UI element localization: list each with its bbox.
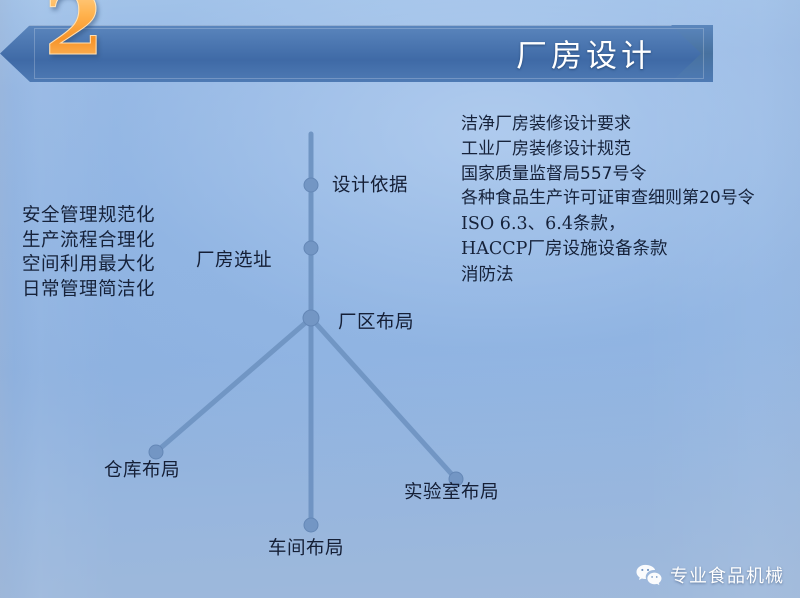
left-text-line: 日常管理简洁化: [22, 278, 155, 302]
slide-canvas: 厂房设计 2 设计依据 厂房选址 厂区布局 仓库布局 车间布局 实验室布局 安全…: [0, 0, 800, 598]
right-text-line: 工业厂房装修设计规范: [461, 139, 755, 161]
watermark-text: 专业食品机械: [670, 562, 784, 588]
page-title: 厂房设计: [516, 30, 656, 75]
label-factory-site: 厂房选址: [196, 246, 272, 272]
right-text-line: 洁净厂房装修设计要求: [461, 114, 755, 136]
branch-left: [156, 318, 311, 452]
left-text-line: 安全管理规范化: [22, 204, 155, 228]
left-text-block: 安全管理规范化 生产流程合理化 空间利用最大化 日常管理简洁化: [22, 204, 155, 303]
node-factory-site: [304, 241, 318, 255]
step-number: 2: [44, 0, 104, 68]
label-design-basis: 设计依据: [332, 171, 408, 197]
right-text-block: 洁净厂房装修设计要求 工业厂房装修设计规范 国家质量监督局557号令 各种食品生…: [461, 114, 755, 289]
footer-watermark: 专业食品机械: [636, 562, 784, 588]
label-workshop-layout: 车间布局: [268, 534, 344, 560]
right-text-line: 消防法: [461, 264, 755, 286]
right-text-line: HACCP厂房设施设备条款: [461, 238, 755, 260]
right-text-line: ISO 6.3、6.4条款，: [461, 213, 755, 235]
label-warehouse-layout: 仓库布局: [104, 456, 180, 482]
left-text-line: 空间利用最大化: [22, 253, 155, 277]
label-plant-layout: 厂区布局: [338, 308, 414, 334]
node-workshop-layout: [304, 518, 318, 532]
right-text-line: 国家质量监督局557号令: [461, 164, 755, 186]
wechat-icon: [636, 563, 662, 587]
label-lab-layout: 实验室布局: [404, 478, 499, 504]
node-plant-layout: [303, 310, 319, 326]
node-design-basis: [304, 178, 318, 192]
branch-right: [311, 318, 456, 479]
header-banner: 厂房设计: [0, 25, 712, 82]
right-text-line: 各种食品生产许可证审查细则第20号令: [461, 188, 755, 210]
left-text-line: 生产流程合理化: [22, 229, 155, 253]
